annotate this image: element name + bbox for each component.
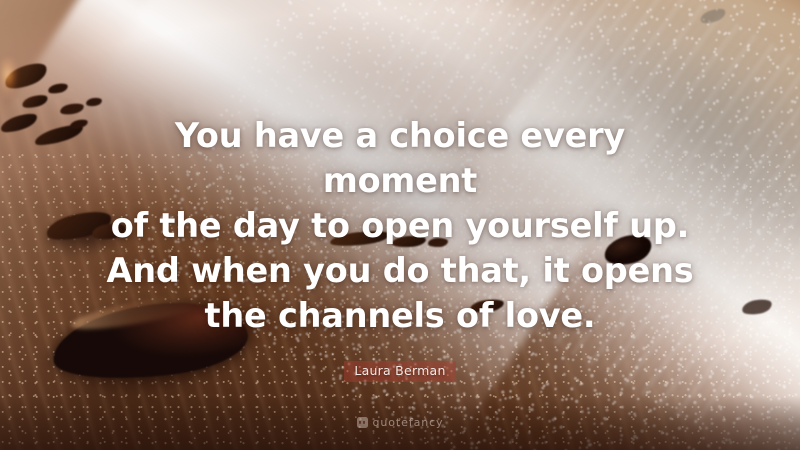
quote-poster: You have a choice every moment of the da… bbox=[0, 0, 800, 450]
quote-text: You have a choice every moment of the da… bbox=[104, 113, 696, 338]
quote-mark-icon bbox=[357, 417, 368, 428]
author-name-badge: Laura Berman bbox=[344, 361, 455, 382]
author-container: Laura Berman bbox=[344, 361, 455, 382]
watermark: quotefancy bbox=[357, 416, 444, 429]
watermark-brand: quotefancy bbox=[373, 416, 444, 429]
poster-content: You have a choice every moment of the da… bbox=[0, 0, 800, 450]
